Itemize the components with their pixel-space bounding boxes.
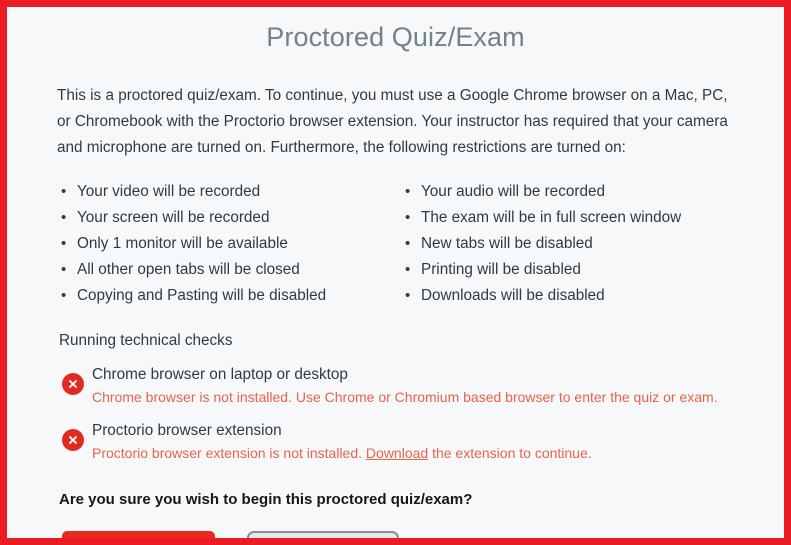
- yes-button[interactable]: Yes: [247, 531, 399, 545]
- list-item: Downloads will be disabled: [401, 283, 757, 309]
- check-message: Proctorio browser extension is not insta…: [92, 443, 784, 464]
- check-title: Chrome browser on laptop or desktop: [92, 364, 784, 387]
- error-circle-x-icon: [62, 373, 84, 395]
- button-row: No Yes: [7, 511, 784, 545]
- intro-paragraph: This is a proctored quiz/exam. To contin…: [7, 55, 784, 161]
- check-message-prefix: Proctorio browser extension is not insta…: [92, 445, 366, 461]
- restrictions-column-right: Your audio will be recorded The exam wil…: [357, 179, 757, 309]
- check-message-suffix: the extension to continue.: [428, 445, 591, 461]
- restrictions-section: Your video will be recorded Your screen …: [7, 161, 784, 309]
- check-title: Proctorio browser extension: [92, 420, 784, 443]
- list-item: Your screen will be recorded: [57, 205, 357, 231]
- check-item-proctorio-extension: Proctorio browser extension Proctorio br…: [7, 420, 784, 464]
- restrictions-column-left: Your video will be recorded Your screen …: [7, 179, 357, 309]
- list-item: New tabs will be disabled: [401, 231, 757, 257]
- proctored-exam-dialog: Proctored Quiz/Exam This is a proctored …: [0, 0, 791, 545]
- dialog-body: Proctored Quiz/Exam This is a proctored …: [7, 7, 784, 538]
- error-circle-x-icon: [62, 429, 84, 451]
- list-item: Copying and Pasting will be disabled: [57, 283, 357, 309]
- technical-checks-heading: Running technical checks: [7, 309, 784, 352]
- list-item: Your audio will be recorded: [401, 179, 757, 205]
- check-message: Chrome browser is not installed. Use Chr…: [92, 387, 784, 408]
- restriction-list-right: Your audio will be recorded The exam wil…: [401, 179, 757, 309]
- no-button[interactable]: No: [62, 531, 215, 545]
- list-item: The exam will be in full screen window: [401, 205, 757, 231]
- check-message-text: Chrome browser is not installed. Use Chr…: [92, 389, 718, 405]
- list-item: Printing will be disabled: [401, 257, 757, 283]
- technical-checks-list: Chrome browser on laptop or desktop Chro…: [7, 352, 784, 464]
- list-item: Your video will be recorded: [57, 179, 357, 205]
- restriction-list-left: Your video will be recorded Your screen …: [57, 179, 357, 309]
- page-title: Proctored Quiz/Exam: [7, 7, 784, 55]
- check-item-chrome-browser: Chrome browser on laptop or desktop Chro…: [7, 364, 784, 408]
- download-extension-link[interactable]: Download: [366, 445, 428, 461]
- confirm-question: Are you sure you wish to begin this proc…: [7, 476, 784, 511]
- list-item: All other open tabs will be closed: [57, 257, 357, 283]
- list-item: Only 1 monitor will be available: [57, 231, 357, 257]
